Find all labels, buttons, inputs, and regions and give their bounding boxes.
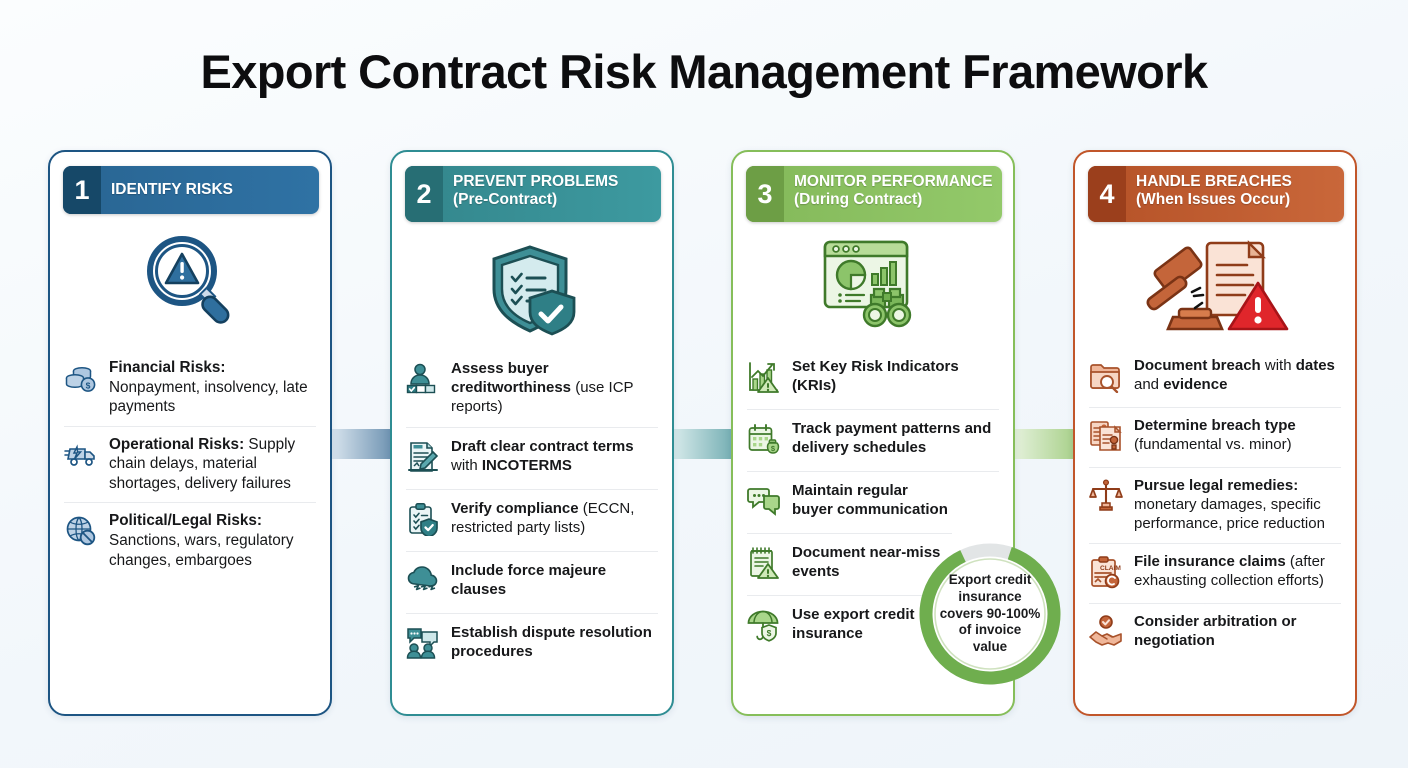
card-header-3: 3 MONITOR PERFORMANCE (During Contract) bbox=[746, 166, 1002, 222]
storm-cloud-icon bbox=[406, 561, 440, 603]
claim-form-icon: CLAIM bbox=[1089, 552, 1123, 594]
svg-text:$: $ bbox=[767, 628, 772, 638]
list-item[interactable]: CLAIM File insurance claims (after exhau… bbox=[1089, 543, 1341, 603]
list-item[interactable]: Establish dispute resolution procedures bbox=[406, 613, 658, 675]
card-header-4: 4 HANDLE BREACHES (When Issues Occur) bbox=[1088, 166, 1344, 222]
step-label-3: MONITOR PERFORMANCE (During Contract) bbox=[784, 166, 1002, 222]
chat-bubbles-icon bbox=[747, 481, 781, 523]
list-item[interactable]: Political/Legal Risks: Sanctions, wars, … bbox=[64, 502, 316, 579]
list-item-text: Include force majeure clauses bbox=[451, 561, 658, 599]
step-number-2: 2 bbox=[405, 166, 443, 222]
list-item-text: Determine breach type (fundamental vs. m… bbox=[1134, 416, 1341, 454]
stage-card-handle-breaches[interactable]: 4 HANDLE BREACHES (When Issues Occur) bbox=[1073, 150, 1357, 716]
infographic-root: Export Contract Risk Management Framewor… bbox=[0, 0, 1408, 768]
list-item[interactable]: Consider arbitration or negotiation bbox=[1089, 603, 1341, 663]
handshake-check-icon bbox=[1089, 612, 1123, 654]
step-number-3: 3 bbox=[746, 166, 784, 222]
list-item[interactable]: Set Key Risk Indicators (KRIs) bbox=[747, 348, 999, 409]
list-item-text: Consider arbitration or negotiation bbox=[1134, 612, 1341, 650]
list-item[interactable]: Document breach with dates and evidence bbox=[1089, 348, 1341, 407]
badge-text: Export credit insurance covers 90-100% o… bbox=[912, 536, 1068, 692]
magnifier-warning-icon bbox=[138, 229, 242, 333]
list-item[interactable]: Draft clear contract terms with INCOTERM… bbox=[406, 427, 658, 489]
stage-card-identify-risks[interactable]: 1 IDENTIFY RISKS bbox=[48, 150, 332, 716]
list-item-text: Pursue legal remedies: monetary damages,… bbox=[1134, 476, 1341, 534]
list-item[interactable]: $ Track payment patterns and delivery sc… bbox=[747, 409, 999, 471]
notepad-warning-icon bbox=[747, 543, 781, 585]
bullet-list-4: Document breach with dates and evidence bbox=[1089, 348, 1341, 663]
shield-checklist-icon bbox=[482, 239, 582, 339]
list-item-text: Financial Risks: Nonpayment, insolvency,… bbox=[109, 358, 316, 417]
bullet-list-1: $ Financial Risks: Nonpayment, insolvenc… bbox=[64, 350, 316, 579]
list-item-text: Set Key Risk Indicators (KRIs) bbox=[792, 357, 999, 395]
step-label-4: HANDLE BREACHES (When Issues Occur) bbox=[1126, 166, 1344, 222]
list-item-text: Establish dispute resolution procedures bbox=[451, 623, 658, 661]
list-item-text: Maintain regular buyer communication bbox=[792, 481, 950, 519]
buyer-rating-icon bbox=[406, 359, 440, 401]
list-item[interactable]: Determine breach type (fundamental vs. m… bbox=[1089, 407, 1341, 467]
page-title: Export Contract Risk Management Framewor… bbox=[0, 44, 1408, 99]
list-item-text: Operational Risks: Supply chain delays, … bbox=[109, 435, 316, 494]
list-item[interactable]: $ Financial Risks: Nonpayment, insolvenc… bbox=[64, 350, 316, 426]
card-header-2: 2 PREVENT PROBLEMS (Pre-Contract) bbox=[405, 166, 661, 222]
broken-truck-icon bbox=[64, 435, 98, 477]
stage-card-prevent-problems[interactable]: 2 PREVENT PROBLEMS (Pre-Contract) bbox=[390, 150, 674, 716]
gavel-document-alert-icon bbox=[1139, 235, 1291, 335]
hero-icon-area-3 bbox=[733, 232, 1013, 338]
badge-line-3: covers 90-100% bbox=[940, 606, 1041, 623]
folder-search-icon bbox=[1089, 356, 1123, 398]
list-item[interactable]: Operational Risks: Supply chain delays, … bbox=[64, 426, 316, 503]
list-item[interactable]: Assess buyer creditworthiness (use ICP r… bbox=[406, 350, 658, 427]
badge-line-1: Export credit bbox=[949, 572, 1032, 589]
list-item[interactable]: Include force majeure clauses bbox=[406, 551, 658, 613]
documents-seal-icon bbox=[1089, 416, 1123, 458]
list-item-text: Assess buyer creditworthiness (use ICP r… bbox=[451, 359, 658, 417]
hero-icon-area-1 bbox=[50, 226, 330, 336]
umbrella-shield-dollar-icon: $ bbox=[747, 605, 781, 647]
bullet-list-2: Assess buyer creditworthiness (use ICP r… bbox=[406, 350, 658, 675]
card-header-1: 1 IDENTIFY RISKS bbox=[63, 166, 319, 214]
step-label-1: IDENTIFY RISKS bbox=[101, 166, 319, 214]
list-item-text: Political/Legal Risks: Sanctions, wars, … bbox=[109, 511, 316, 570]
list-item[interactable]: Verify compliance (ECCN, restricted part… bbox=[406, 489, 658, 551]
compliance-clipboard-icon bbox=[406, 499, 440, 541]
hero-icon-area-4 bbox=[1075, 232, 1355, 338]
contract-pen-icon bbox=[406, 437, 440, 479]
svg-text:CLAIM: CLAIM bbox=[1100, 565, 1121, 572]
coins-dollar-icon: $ bbox=[64, 358, 98, 400]
hero-icon-area-2 bbox=[392, 234, 672, 344]
list-item-text: Document breach with dates and evidence bbox=[1134, 356, 1341, 394]
export-credit-insurance-badge: Export credit insurance covers 90-100% o… bbox=[912, 536, 1068, 692]
step-number-1: 1 bbox=[63, 166, 101, 214]
list-item-text: Track payment patterns and delivery sche… bbox=[792, 419, 999, 457]
list-item[interactable]: Pursue legal remedies: monetary damages,… bbox=[1089, 467, 1341, 543]
step-label-2: PREVENT PROBLEMS (Pre-Contract) bbox=[443, 166, 661, 222]
badge-line-5: value bbox=[973, 639, 1007, 656]
svg-text:$: $ bbox=[86, 380, 91, 390]
list-item-text: File insurance claims (after exhausting … bbox=[1134, 552, 1341, 590]
badge-line-2: insurance bbox=[958, 589, 1021, 606]
scales-icon bbox=[1089, 476, 1123, 518]
dispute-people-icon bbox=[406, 623, 440, 665]
list-item-text: Verify compliance (ECCN, restricted part… bbox=[451, 499, 658, 537]
calendar-money-icon: $ bbox=[747, 419, 781, 461]
dashboard-binoculars-icon bbox=[819, 237, 927, 333]
badge-line-4: of invoice bbox=[959, 622, 1022, 639]
step-number-4: 4 bbox=[1088, 166, 1126, 222]
globe-blocked-icon bbox=[64, 511, 98, 553]
list-item-text: Draft clear contract terms with INCOTERM… bbox=[451, 437, 658, 475]
list-item[interactable]: Maintain regular buyer communication bbox=[747, 471, 999, 533]
kri-chart-warning-icon bbox=[747, 357, 781, 399]
